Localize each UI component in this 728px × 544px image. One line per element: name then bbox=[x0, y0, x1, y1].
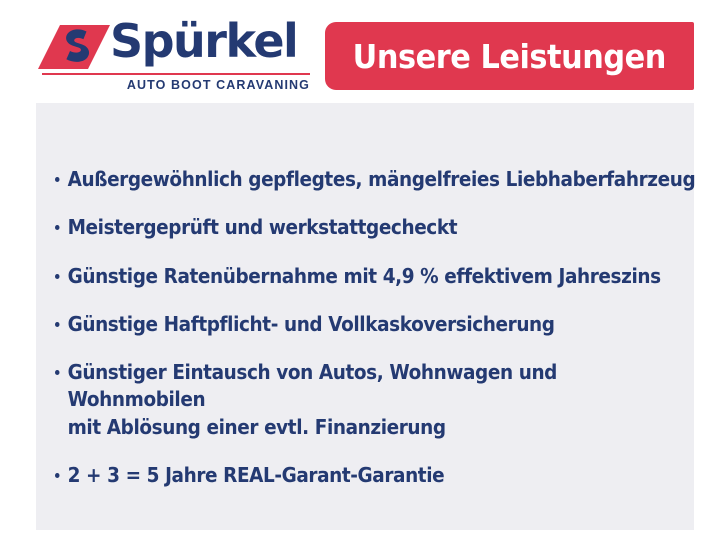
list-item-text: Meistergeprüft und werkstattgecheckt bbox=[68, 214, 698, 241]
logo-wordmark: Spürkel bbox=[110, 18, 297, 64]
list-item-text: 2 + 3 = 5 Jahre REAL-Garant-Garantie bbox=[68, 462, 698, 489]
page-header: Spürkel AUTO BOOT CARAVANING Unsere Leis… bbox=[0, 0, 728, 103]
list-item: Günstiger Eintausch von Autos, Wohnwagen… bbox=[55, 359, 698, 441]
list-item: 2 + 3 = 5 Jahre REAL-Garant-Garantie bbox=[55, 462, 698, 489]
list-item-text: Günstige Haftpflicht- und Vollkaskoversi… bbox=[68, 311, 698, 338]
list-item-text: Günstiger Eintausch von Autos, Wohnwagen… bbox=[68, 359, 698, 441]
list-item-text: Außergewöhnlich gepflegtes, mängelfreies… bbox=[68, 166, 698, 193]
list-item-text: Günstige Ratenübernahme mit 4,9 % effekt… bbox=[68, 263, 698, 290]
advertisement-page: Spürkel AUTO BOOT CARAVANING Unsere Leis… bbox=[0, 0, 728, 544]
bullet-dot-icon bbox=[55, 225, 60, 230]
list-item: Meistergeprüft und werkstattgecheckt bbox=[55, 214, 698, 241]
list-item: Günstige Ratenübernahme mit 4,9 % effekt… bbox=[55, 263, 698, 290]
bullet-dot-icon bbox=[55, 322, 60, 327]
services-bullet-list: Außergewöhnlich gepflegtes, mängelfreies… bbox=[55, 166, 686, 489]
logo-divider-rule bbox=[42, 73, 310, 75]
spuerkel-s-logo-mark bbox=[38, 25, 110, 69]
bullet-dot-icon bbox=[55, 370, 60, 375]
logo-tagline: AUTO BOOT CARAVANING bbox=[127, 78, 310, 92]
bullet-dot-icon bbox=[55, 473, 60, 478]
company-logo: Spürkel AUTO BOOT CARAVANING bbox=[38, 22, 310, 90]
logo-row: Spürkel bbox=[38, 22, 310, 70]
bullet-dot-icon bbox=[55, 177, 60, 182]
headline-banner: Unsere Leistungen bbox=[325, 22, 694, 90]
bullet-dot-icon bbox=[55, 274, 60, 279]
list-item: Außergewöhnlich gepflegtes, mängelfreies… bbox=[55, 166, 698, 193]
services-panel: Außergewöhnlich gepflegtes, mängelfreies… bbox=[36, 103, 694, 530]
list-item: Günstige Haftpflicht- und Vollkaskoversi… bbox=[55, 311, 698, 338]
banner-title: Unsere Leistungen bbox=[353, 40, 666, 73]
